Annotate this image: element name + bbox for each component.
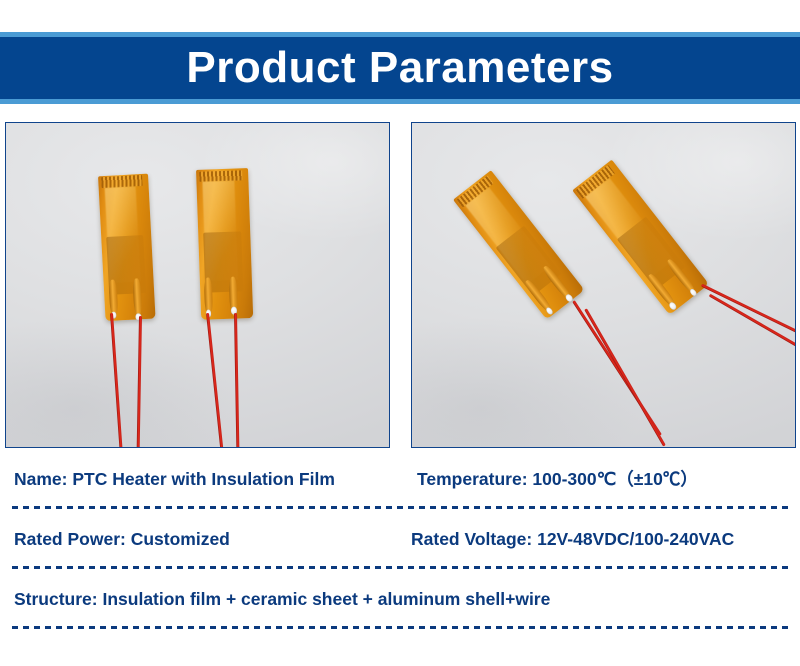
banner-body: Product Parameters — [0, 37, 800, 99]
spec-divider — [12, 506, 790, 509]
heater-film-body — [196, 168, 253, 320]
product-photo-diagonal[interactable] — [411, 122, 796, 448]
spec-divider — [12, 626, 790, 629]
spec-name: Name: PTC Heater with Insulation Film — [14, 469, 335, 490]
page-header-banner: Product Parameters — [0, 32, 800, 104]
spec-row: Rated Power: Customized Rated Voltage: 1… — [0, 518, 800, 578]
heater-unit — [196, 168, 253, 320]
page-title: Product Parameters — [186, 46, 613, 90]
spec-temperature: Temperature: 100-300℃（±10℃） — [417, 469, 698, 490]
spec-rated-power: Rated Power: Customized — [14, 529, 230, 550]
spec-structure: Structure: Insulation film + ceramic she… — [14, 589, 550, 610]
spec-row: Name: PTC Heater with Insulation Film Te… — [0, 458, 800, 518]
product-image-gallery — [0, 122, 800, 450]
spec-divider — [12, 566, 790, 569]
heater-unit — [98, 174, 156, 321]
heater-comb-edge — [199, 170, 242, 182]
product-photo-vertical[interactable] — [5, 122, 390, 448]
specifications-list: Name: PTC Heater with Insulation Film Te… — [0, 458, 800, 638]
heater-film-body — [98, 174, 156, 321]
spec-row: Structure: Insulation film + ceramic she… — [0, 578, 800, 638]
product-parameters-page: Product Parameters — [0, 0, 800, 666]
spec-rated-voltage: Rated Voltage: 12V-48VDC/100-240VAC — [411, 529, 734, 550]
banner-bottom-stripe — [0, 99, 800, 104]
